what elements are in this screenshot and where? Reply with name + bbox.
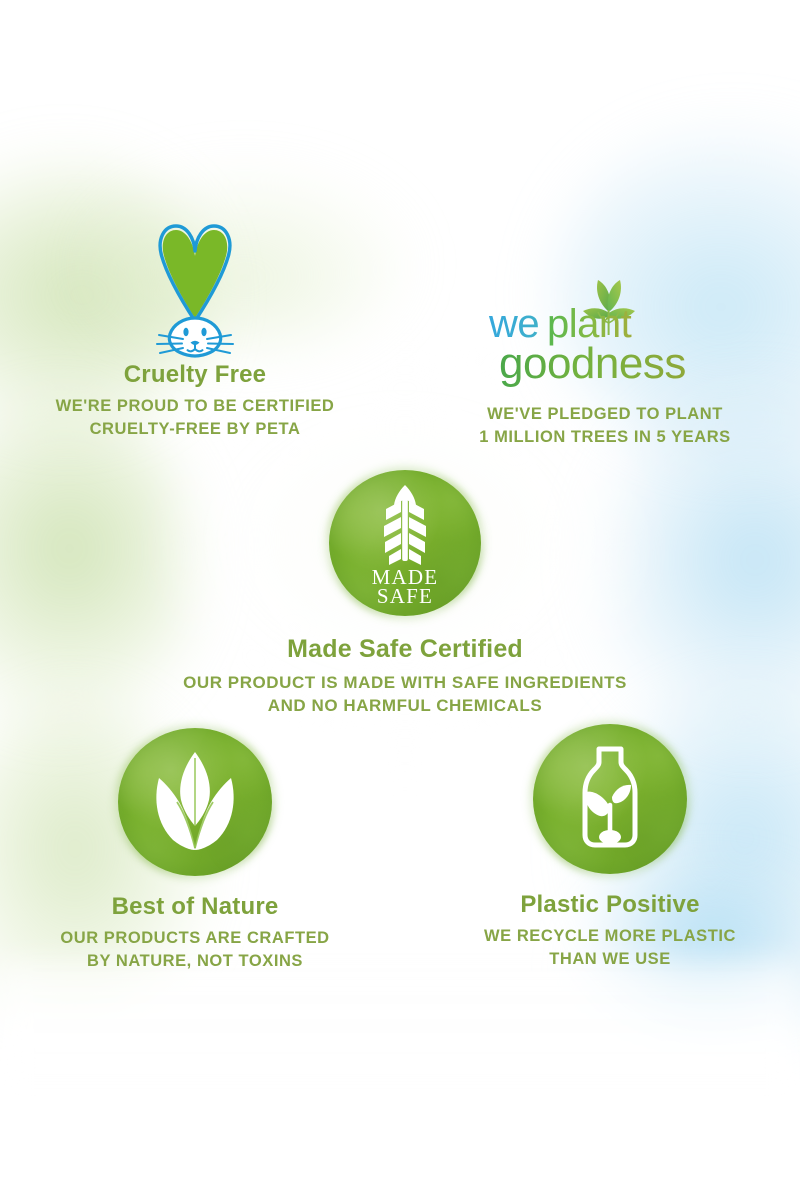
badge-desc-best-of-nature: OUR PRODUCTS ARE CRAFTED BY NATURE, NOT …: [25, 927, 365, 973]
made-safe-seal-icon-wrap: MADE SAFE: [140, 466, 670, 616]
three-leaves-glyph: [143, 748, 247, 856]
peta-bunny-heart-icon-wrap: [20, 222, 370, 362]
made-safe-leaf-glyph: MADE SAFE: [345, 481, 465, 605]
badge-desc-made-safe: OUR PRODUCT IS MADE WITH SAFE INGREDIENT…: [140, 671, 670, 718]
we-plant-goodness-logo-wrap: we plant goodness: [430, 275, 780, 387]
badge-made-safe: MADE SAFE Made Safe Certified OUR PRODUC…: [140, 466, 670, 717]
bottle-sprout-icon: [533, 724, 687, 874]
badge-title-best-of-nature: Best of Nature: [25, 894, 365, 920]
badge-desc-line-2: CRUELTY-FREE BY PETA: [90, 420, 301, 438]
badge-we-plant-goodness: we plant goodness WE'VE PLEDGED TO PLANT…: [430, 275, 780, 449]
peta-bunny-heart-icon: [133, 222, 257, 362]
badge-title-made-safe: Made Safe Certified: [140, 636, 670, 664]
badge-desc-line-1: OUR PRODUCT IS MADE WITH SAFE INGREDIENT…: [183, 673, 627, 692]
svg-text:goodness: goodness: [499, 339, 686, 387]
badge-desc-line-2: THAN WE USE: [549, 950, 671, 968]
badge-desc-line-1: WE'VE PLEDGED TO PLANT: [487, 405, 723, 423]
badge-desc-line-2: BY NATURE, NOT TOXINS: [87, 952, 303, 970]
made-safe-seal-icon: MADE SAFE: [329, 470, 481, 616]
badge-desc-we-plant-goodness: WE'VE PLEDGED TO PLANT 1 MILLION TREES I…: [430, 403, 780, 449]
badge-desc-line-2: 1 MILLION TREES IN 5 YEARS: [479, 428, 730, 446]
badge-desc-line-1: WE'RE PROUD TO BE CERTIFIED: [56, 397, 335, 415]
made-safe-seal-line2: SAFE: [377, 584, 433, 605]
badge-grid: Cruelty Free WE'RE PROUD TO BE CERTIFIED…: [0, 0, 800, 1200]
bottle-sprout-icon-wrap: [440, 722, 780, 874]
three-leaves-icon: [118, 728, 272, 876]
badge-desc-plastic-positive: WE RECYCLE MORE PLASTIC THAN WE USE: [440, 925, 780, 971]
badge-desc-line-1: OUR PRODUCTS ARE CRAFTED: [60, 929, 329, 947]
badge-desc-line-1: WE RECYCLE MORE PLASTIC: [484, 927, 736, 945]
three-leaves-icon-wrap: [25, 724, 365, 876]
badge-desc-line-2: AND NO HARMFUL CHEMICALS: [268, 696, 542, 715]
bottle-sprout-glyph: [561, 743, 659, 855]
badge-best-of-nature: Best of Nature OUR PRODUCTS ARE CRAFTED …: [25, 724, 365, 973]
badge-plastic-positive: Plastic Positive WE RECYCLE MORE PLASTIC…: [440, 722, 780, 971]
badge-desc-cruelty-free: WE'RE PROUD TO BE CERTIFIED CRUELTY-FREE…: [20, 395, 370, 441]
badge-title-plastic-positive: Plastic Positive: [440, 892, 780, 918]
badge-title-cruelty-free: Cruelty Free: [20, 362, 370, 388]
infographic-page: Cruelty Free WE'RE PROUD TO BE CERTIFIED…: [0, 0, 800, 1200]
badge-cruelty-free: Cruelty Free WE'RE PROUD TO BE CERTIFIED…: [20, 222, 370, 441]
we-plant-goodness-logo: we plant goodness: [475, 275, 735, 387]
